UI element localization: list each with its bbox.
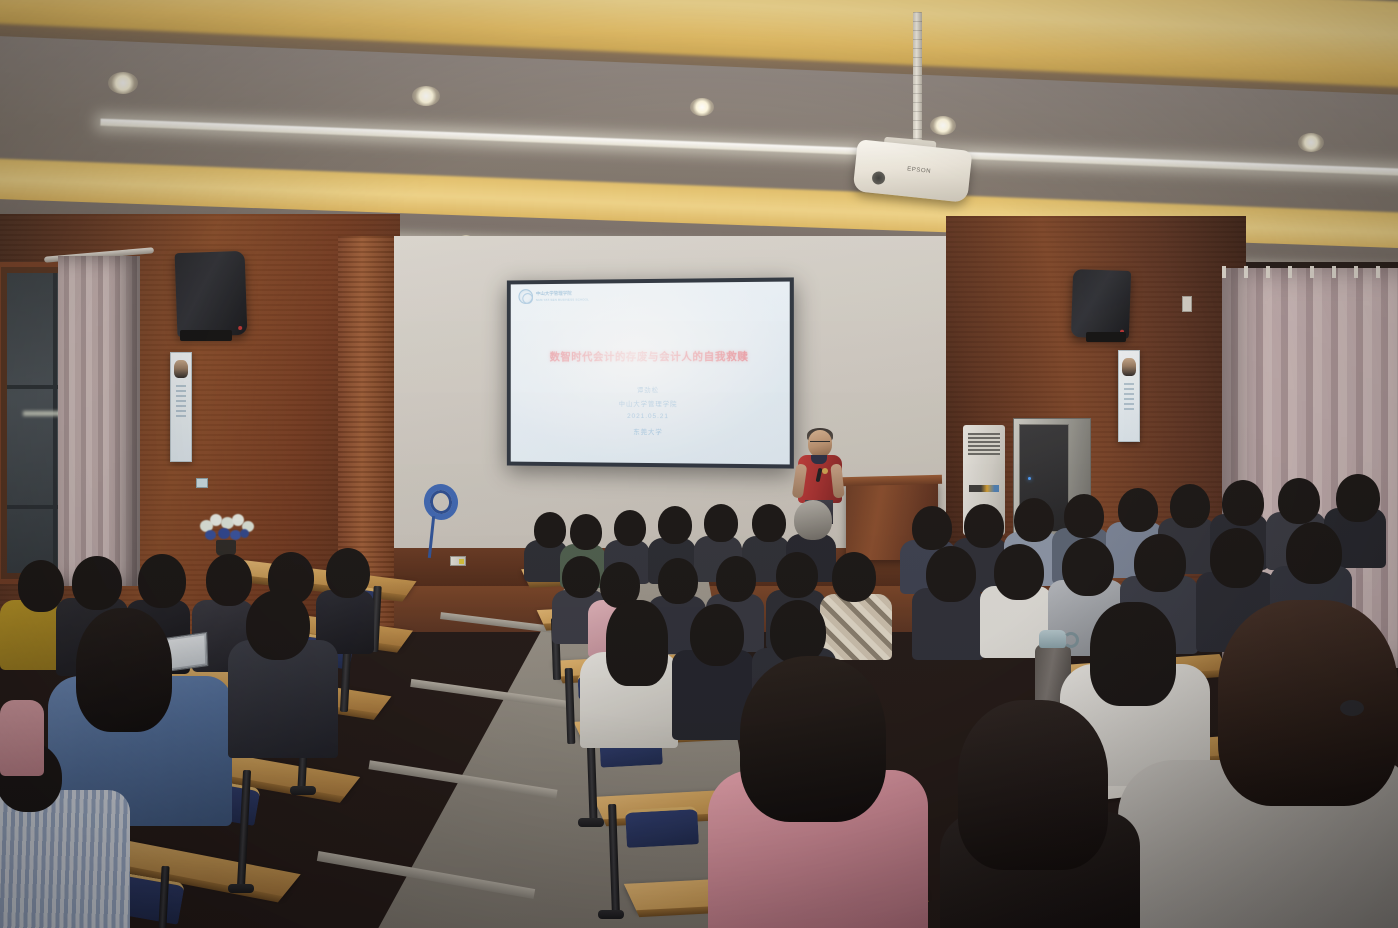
audience-head-c17 — [740, 656, 886, 822]
audience-head-c4 — [658, 506, 692, 544]
slide-surface: 中山大学管理学院 SUN YAT-SEN BUSINESS SCHOOL 数智时… — [511, 282, 790, 465]
lecture-hall-photograph: 中山大学管理学院 SUN YAT-SEN BUSINESS SCHOOL 数智时… — [0, 0, 1398, 928]
audience-head-c7-grey — [794, 500, 832, 540]
desk-foot-c5 — [598, 910, 624, 919]
wall-speaker-left — [175, 251, 248, 337]
downlight-2 — [412, 86, 440, 106]
presenter-glasses — [810, 441, 830, 445]
audience-head-c3 — [614, 510, 646, 546]
audience-head-r14 — [1210, 528, 1264, 588]
desk-foot-c4 — [578, 818, 604, 827]
downlight-4 — [930, 116, 956, 135]
audience-head-r7 — [1222, 480, 1264, 526]
audience-head-r12 — [1062, 538, 1114, 596]
wall-poster-right — [1118, 350, 1140, 442]
audience-head-l2 — [72, 556, 122, 610]
audience-head-r9 — [1336, 474, 1380, 522]
wall-poster-left — [170, 352, 192, 462]
slide-subtitle-affiliation: 中山大学管理学院 — [511, 399, 790, 409]
audience-head-c8 — [562, 556, 600, 598]
slide-title: 数智时代会计的存废与会计人的自我救赎 — [511, 349, 790, 365]
audience-head-c10 — [658, 558, 698, 604]
audience-head-c2 — [570, 514, 602, 550]
ac-vent-grill — [968, 433, 1000, 455]
audience-head-l7 — [76, 608, 172, 732]
bottle-cap — [1039, 630, 1066, 648]
wall-speaker-right — [1071, 269, 1131, 339]
audience-head-c15 — [690, 604, 744, 666]
audience-head-c16 — [770, 600, 826, 664]
audience-head-c11 — [716, 556, 756, 602]
audience-head-l4 — [206, 554, 252, 606]
bottle-carry-loop — [1063, 632, 1079, 648]
audience-head-l8 — [246, 590, 310, 660]
podium-top-surface — [842, 475, 942, 487]
audience-head-r6 — [1170, 484, 1210, 528]
audience-body-c13-plaid — [820, 594, 892, 660]
wall-sign-right — [1182, 296, 1192, 312]
audience-head-r10 — [926, 546, 976, 602]
university-seal-icon — [518, 289, 533, 304]
slide-logo-en: SUN YAT-SEN BUSINESS SCHOOL — [536, 297, 589, 301]
wall-switch-left[interactable] — [196, 478, 208, 488]
desk-foot-l3 — [290, 786, 316, 795]
wall-outlet[interactable] — [450, 556, 466, 566]
projector-brand-label: EPSON — [907, 166, 932, 174]
audience-head-c6 — [752, 504, 786, 542]
audience-head-r8 — [1278, 478, 1320, 524]
presenter-arm-right — [830, 464, 844, 499]
slide-subtitle-speaker: 谭劲松 — [511, 385, 790, 395]
projector-lens — [871, 171, 885, 185]
presenter-collar — [811, 455, 827, 464]
downlight-5 — [1298, 133, 1324, 152]
audience-head-l6 — [326, 548, 370, 598]
audience-head-r11 — [994, 544, 1044, 600]
audience-head-r5 — [1118, 488, 1158, 532]
desk-foot-l4 — [228, 884, 254, 893]
poster-text-lines-right — [1124, 383, 1134, 410]
projector-mount-pole — [913, 12, 922, 148]
audience-head-c12 — [776, 552, 818, 598]
audience-head-r18 — [958, 700, 1108, 870]
flower-arrangement — [196, 508, 258, 550]
presenter-shirt-emblem — [822, 468, 828, 474]
audience-head-c13 — [832, 552, 876, 602]
projection-screen: 中山大学管理学院 SUN YAT-SEN BUSINESS SCHOOL 数智时… — [507, 277, 794, 468]
audience-head-r15 — [1286, 522, 1342, 584]
speaker-bracket-right — [1086, 332, 1126, 342]
poster-portrait-icon-right — [1122, 358, 1136, 376]
screen-glare — [511, 282, 790, 465]
slide-logo: 中山大学管理学院 SUN YAT-SEN BUSINESS SCHOOL — [518, 289, 589, 304]
audience-head-r3 — [1014, 498, 1054, 542]
hair-tie — [1340, 700, 1364, 716]
curtain-rings-right — [1222, 266, 1398, 278]
downlight-3 — [690, 98, 714, 116]
downlight-1 — [108, 72, 138, 94]
speaker-bracket-left — [180, 330, 232, 341]
audience-head-r2 — [964, 504, 1004, 548]
audience-head-r17 — [1218, 600, 1398, 806]
audience-head-c14 — [606, 600, 668, 686]
audience-head-r13 — [1134, 534, 1186, 592]
audience-head-l3 — [138, 554, 186, 608]
audience-head-r1 — [912, 506, 952, 550]
poster-portrait-icon — [174, 360, 188, 378]
slide-subtitle-date: 2021.05.21 — [511, 412, 790, 420]
curtain-left[interactable] — [58, 256, 140, 586]
audience-head-c5 — [704, 504, 738, 542]
audience-head-c1 — [534, 512, 566, 548]
rack-status-led — [1028, 477, 1031, 480]
audience-body-l10-pink — [0, 700, 44, 776]
poster-text-lines — [176, 385, 186, 417]
audience-head-r4 — [1064, 494, 1104, 538]
ac-control-panel[interactable] — [969, 485, 999, 492]
audience-head-r16 — [1090, 602, 1176, 706]
slide-subtitle-location: 东莞大学 — [511, 426, 790, 437]
seat-center-5 — [625, 806, 699, 848]
